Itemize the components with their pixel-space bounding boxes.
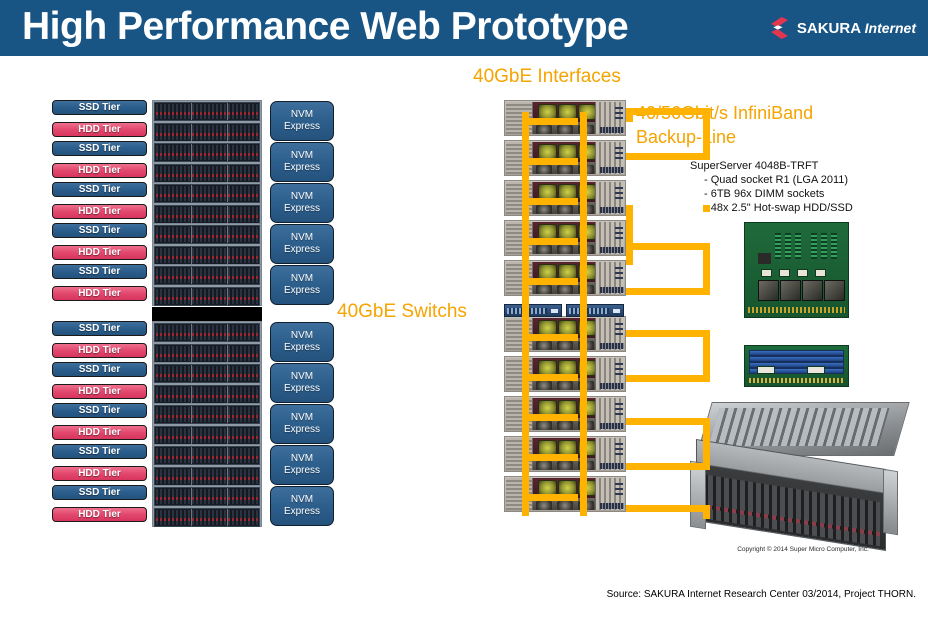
hdd-tier-button[interactable]: HDD Tier (52, 466, 147, 481)
nvm-label-line-1: NVM (291, 371, 313, 383)
server-module (536, 421, 552, 430)
infiniband-cable (626, 108, 710, 115)
nvm-label-line-2: Express (284, 424, 320, 436)
spec-item-1: - 6TB 96x DIMM sockets (704, 187, 900, 201)
pcie-slot (811, 233, 817, 259)
drive-bay-divider (227, 447, 228, 464)
drive-bay-shelf (154, 446, 260, 465)
server-io-port (615, 373, 623, 375)
tier-button-stack: SSD TierHDD Tier (52, 321, 147, 363)
infiniband-cable (626, 463, 710, 470)
riser-chip (757, 366, 775, 374)
server-module (557, 165, 573, 174)
drive-led-strip (156, 194, 258, 197)
infiniband-cable (626, 205, 633, 265)
drive-bay-unit (152, 141, 262, 183)
server-io-port (615, 408, 623, 410)
drive-bay-divider (227, 386, 228, 403)
switch-status-led (551, 309, 558, 313)
infiniband-line-2: Backup-Line (636, 125, 813, 149)
pcie-slot (785, 233, 791, 259)
tier-button-stack: SSD TierHDD Tier (52, 444, 147, 486)
sakura-petal-logo-icon (768, 16, 790, 40)
server-module (557, 205, 573, 214)
drive-led-strip (156, 395, 258, 398)
hdd-tier-button[interactable]: HDD Tier (52, 122, 147, 137)
label-40gbe-switchs: 40GbE Switchs (337, 301, 467, 323)
ssd-tier-button[interactable]: SSD Tier (52, 444, 147, 459)
riser-edge-connector (749, 378, 844, 383)
label-40gbe-interfaces: 40GbE Interfaces (473, 66, 621, 88)
drive-bay-divider (227, 103, 228, 120)
drive-bay-divider (191, 247, 192, 264)
nvm-express-button[interactable]: NVMExpress (270, 322, 334, 362)
drive-bay-unit (152, 485, 262, 527)
hdd-tier-button[interactable]: HDD Tier (52, 204, 147, 219)
drive-led-strip (156, 215, 258, 218)
drive-led-strip (156, 276, 258, 279)
drive-led-strip (156, 256, 258, 259)
drive-bay-divider (227, 406, 228, 423)
drive-led-strip (156, 297, 258, 300)
drive-bay-shelf (154, 426, 260, 445)
drive-led-strip (156, 456, 258, 459)
ssd-tier-button[interactable]: SSD Tier (52, 264, 147, 279)
nvm-label-line-1: NVM (291, 191, 313, 203)
drive-bay-shelf (154, 323, 260, 342)
infiniband-cable (703, 505, 710, 519)
drive-bay-divider (227, 427, 228, 444)
drive-led-strip (156, 153, 258, 156)
drive-bay-unit (152, 403, 262, 445)
tier-button-stack: SSD TierHDD Tier (52, 100, 147, 142)
quad-socket-motherboard-photo (744, 222, 849, 318)
server-module (536, 165, 552, 174)
drive-bay-divider (227, 468, 228, 485)
network-cable (522, 278, 578, 285)
drive-bay-divider (227, 206, 228, 223)
storage-row: SSD TierHDD TierNVMExpress (52, 444, 334, 486)
drive-bay-shelf (154, 405, 260, 424)
nvm-label-line-1: NVM (291, 109, 313, 121)
infiniband-cable (626, 418, 710, 425)
pcie-slot (795, 233, 801, 259)
cpu-socket (802, 280, 823, 301)
dimm-connector (815, 269, 826, 277)
drive-bay-divider (227, 144, 228, 161)
network-cable (522, 238, 578, 245)
tier-button-stack: SSD TierHDD Tier (52, 362, 147, 404)
network-cable (522, 494, 578, 501)
server-nic-ports (600, 343, 624, 349)
drive-bay-divider (191, 365, 192, 382)
ssd-tier-button[interactable]: SSD Tier (52, 403, 147, 418)
nvm-express-button[interactable]: NVMExpress (270, 224, 334, 264)
server-module (536, 125, 552, 134)
drive-led-strip (156, 333, 258, 336)
drive-led-strip (156, 354, 258, 357)
drive-bay-divider (227, 267, 228, 284)
source-line: Source: SAKURA Internet Research Center … (607, 589, 916, 600)
drive-bay-divider (227, 488, 228, 505)
drive-bay-divider (227, 165, 228, 182)
network-cable (522, 454, 578, 461)
nvm-express-button[interactable]: NVMExpress (270, 265, 334, 305)
spec-title: SuperServer 4048B-TRFT (690, 159, 900, 173)
server-io-port (615, 227, 623, 229)
pcie-slot (775, 233, 781, 259)
infiniband-cable (626, 243, 710, 250)
server-io-port (615, 147, 623, 149)
nvm-label-line-2: Express (284, 203, 320, 215)
hdd-tier-button[interactable]: HDD Tier (52, 507, 147, 522)
nvm-express-button[interactable]: NVMExpress (270, 486, 334, 526)
nvm-label-line-2: Express (284, 342, 320, 354)
server-nic-ports (600, 207, 624, 213)
drive-bay-shelf (154, 184, 260, 203)
drive-bay-divider (191, 406, 192, 423)
drive-bay-unit (152, 100, 262, 142)
drive-bay-divider (191, 386, 192, 403)
drive-bay-divider (191, 488, 192, 505)
server-io-port (615, 363, 623, 365)
nvm-express-button[interactable]: NVMExpress (270, 101, 334, 141)
motherboard-edge-connector (748, 307, 845, 313)
ssd-tier-button[interactable]: SSD Tier (52, 223, 147, 238)
drive-bay-unit (152, 444, 262, 486)
drive-bay-divider (227, 345, 228, 362)
title-accent-strip (0, 0, 12, 56)
server-nic-ports (600, 423, 624, 429)
pcie-slot (821, 233, 827, 259)
nvm-express-button[interactable]: NVMExpress (270, 183, 334, 223)
drive-bay-shelf (154, 364, 260, 383)
brand-logo-text: SAKURA Internet (797, 20, 916, 37)
nvm-express-button[interactable]: NVMExpress (270, 445, 334, 485)
drive-bay-divider (191, 185, 192, 202)
server-io-port (615, 157, 623, 159)
drive-bay-divider (227, 288, 228, 305)
page-title: High Performance Web Prototype (22, 5, 628, 49)
drive-bay-divider (191, 103, 192, 120)
drive-bay-divider (191, 124, 192, 141)
supermicro-copyright: Copyright © 2014 Super Micro Computer, I… (703, 546, 903, 553)
server-module (536, 205, 552, 214)
drive-led-strip (156, 415, 258, 418)
server-module (557, 421, 573, 430)
hdd-tier-button[interactable]: HDD Tier (52, 343, 147, 358)
server-io-port (615, 448, 623, 450)
nvm-label-line-1: NVM (291, 494, 313, 506)
cpu-socket (758, 280, 779, 301)
server-io-port (615, 152, 623, 154)
drive-bay-unit (152, 223, 262, 265)
nvm-label-line-2: Express (284, 162, 320, 174)
network-cable (522, 158, 578, 165)
drive-bay-divider (191, 267, 192, 284)
drive-bay-divider (191, 447, 192, 464)
network-cable (522, 334, 578, 341)
drive-bay-unit (152, 264, 262, 306)
superserver-spec-block: SuperServer 4048B-TRFT - Quad socket R1 … (690, 159, 900, 215)
server-module (557, 381, 573, 390)
ssd-tier-button[interactable]: SSD Tier (52, 321, 147, 336)
server-io-port (615, 232, 623, 234)
drive-bay-shelf (154, 508, 260, 527)
dimm-connector (761, 269, 772, 277)
server-io-port (615, 192, 623, 194)
nvm-label-line-1: NVM (291, 273, 313, 285)
drive-bay-divider (227, 365, 228, 382)
storage-row: SSD TierHDD TierNVMExpress (52, 485, 334, 527)
hdd-tier-button[interactable]: HDD Tier (52, 163, 147, 178)
drive-bay-divider (227, 509, 228, 526)
hdd-tier-button[interactable]: HDD Tier (52, 286, 147, 301)
chassis-right-bezel (883, 469, 898, 535)
drive-led-strip (156, 112, 258, 115)
nvm-express-button[interactable]: NVMExpress (270, 142, 334, 182)
drive-bay-shelf (154, 143, 260, 162)
storage-row: SSD TierHDD TierNVMExpress (52, 362, 334, 404)
server-module (536, 381, 552, 390)
server-io-port (615, 488, 623, 490)
drive-led-strip (156, 235, 258, 238)
server-io-port (615, 453, 623, 455)
drive-bay-divider (227, 226, 228, 243)
server-nic-ports (600, 247, 624, 253)
server-io-port (615, 403, 623, 405)
server-io-port (615, 443, 623, 445)
brand-name: SAKURA (797, 20, 861, 37)
infiniband-cable (626, 288, 710, 295)
server-nic-ports (600, 383, 624, 389)
network-cable (522, 198, 578, 205)
server-io-port (615, 197, 623, 199)
infiniband-cable (626, 505, 710, 512)
drive-bay-divider (191, 345, 192, 362)
server-module (536, 245, 552, 254)
server-module (536, 501, 552, 510)
server-nic-ports (600, 167, 624, 173)
drive-bay-shelf (154, 246, 260, 265)
tier-button-stack: SSD TierHDD Tier (52, 141, 147, 183)
switch-status-led (613, 309, 620, 313)
server-nic-ports (600, 127, 624, 133)
server-module (557, 125, 573, 134)
chassis-top-grid (709, 408, 890, 446)
drive-bay-divider (227, 247, 228, 264)
drive-bay-divider (227, 185, 228, 202)
tier-button-stack: SSD TierHDD Tier (52, 403, 147, 445)
nvm-label-line-2: Express (284, 506, 320, 518)
drive-bay-divider (191, 427, 192, 444)
storage-row: SSD TierHDD TierNVMExpress (52, 100, 334, 142)
storage-array-column: SSD TierHDD TierNVMExpressSSD TierHDD Ti… (52, 100, 334, 535)
server-io-port (615, 483, 623, 485)
title-bar: High Performance Web Prototype SAKURA In… (0, 0, 928, 56)
server-module (536, 285, 552, 294)
drive-led-strip (156, 477, 258, 480)
server-io-port (615, 272, 623, 274)
switch-port-row (569, 308, 609, 314)
server-io-port (615, 267, 623, 269)
nvm-label-line-2: Express (284, 383, 320, 395)
server-module (557, 245, 573, 254)
drive-bay-shelf (154, 225, 260, 244)
server-io-port (615, 237, 623, 239)
drive-bay-divider (227, 324, 228, 341)
cpu-socket (780, 280, 801, 301)
server-nic-ports (600, 463, 624, 469)
tier-button-stack: SSD TierHDD Tier (52, 223, 147, 265)
server-io-port (615, 413, 623, 415)
nvm-label-line-2: Express (284, 465, 320, 477)
nvm-express-button[interactable]: NVMExpress (270, 363, 334, 403)
server-io-port (615, 368, 623, 370)
drive-bay-divider (191, 206, 192, 223)
motherboard-chipset-icon (758, 253, 771, 264)
tier-button-stack: SSD TierHDD Tier (52, 182, 147, 224)
drive-bay-unit (152, 182, 262, 224)
infiniband-cable (626, 375, 710, 382)
ssd-tier-button[interactable]: SSD Tier (52, 141, 147, 156)
spec-item-2: - 48x 2.5" Hot-swap HDD/SSD (704, 201, 900, 215)
infiniband-cable (626, 153, 710, 160)
ssd-tier-button[interactable]: SSD Tier (52, 485, 147, 500)
tier-button-stack: SSD TierHDD Tier (52, 485, 147, 527)
storage-row: SSD TierHDD TierNVMExpress (52, 182, 334, 224)
drive-bay-unit (152, 321, 262, 363)
drive-bay-divider (191, 468, 192, 485)
server-io-port (615, 323, 623, 325)
drive-bay-shelf (154, 102, 260, 121)
server-io-port (615, 493, 623, 495)
rack-switch-unit (504, 304, 562, 317)
network-cable (580, 112, 587, 516)
server-module (557, 501, 573, 510)
server-io-port (615, 328, 623, 330)
server-nic-ports (600, 287, 624, 293)
hdd-tier-button[interactable]: HDD Tier (52, 425, 147, 440)
server-rack-column (504, 100, 626, 528)
server-module (557, 341, 573, 350)
drive-bay-shelf (154, 205, 260, 224)
nvm-label-line-1: NVM (291, 150, 313, 162)
drive-led-strip (156, 518, 258, 521)
server-module (536, 461, 552, 470)
storage-row: SSD TierHDD TierNVMExpress (52, 223, 334, 265)
storage-row: SSD TierHDD TierNVMExpress (52, 403, 334, 445)
server-io-port (615, 277, 623, 279)
rack-switch-unit (566, 304, 624, 317)
infiniband-cable (626, 330, 710, 337)
storage-array-gap (152, 307, 262, 321)
storage-row: SSD TierHDD TierNVMExpress (52, 264, 334, 306)
drive-bay-unit (152, 362, 262, 404)
drive-bay-divider (227, 124, 228, 141)
brand-suffix: Internet (865, 20, 916, 36)
drive-bay-shelf (154, 123, 260, 142)
network-cable (522, 414, 578, 421)
storage-row: SSD TierHDD TierNVMExpress (52, 321, 334, 363)
server-module (557, 461, 573, 470)
nvm-label-line-2: Express (284, 244, 320, 256)
drive-led-strip (156, 174, 258, 177)
hdd-tier-button[interactable]: HDD Tier (52, 384, 147, 399)
network-cable (522, 374, 578, 381)
ssd-tier-button[interactable]: SSD Tier (52, 362, 147, 377)
server-module (536, 341, 552, 350)
drive-bay-shelf (154, 266, 260, 285)
drive-bay-shelf (154, 487, 260, 506)
drive-bay-divider (191, 226, 192, 243)
nvm-express-button[interactable]: NVMExpress (270, 404, 334, 444)
drive-bay-shelf (154, 287, 260, 306)
drive-bay-shelf (154, 164, 260, 183)
drive-bay-divider (191, 165, 192, 182)
drive-led-strip (156, 133, 258, 136)
tier-button-stack: SSD TierHDD Tier (52, 264, 147, 306)
brand-logo: SAKURA Internet (768, 14, 916, 42)
infiniband-cable (703, 205, 710, 212)
drive-bay-divider (191, 324, 192, 341)
nvm-label-line-1: NVM (291, 330, 313, 342)
riser-chip (807, 366, 825, 374)
hdd-tier-button[interactable]: HDD Tier (52, 245, 147, 260)
network-cable (522, 118, 578, 125)
drive-bay-divider (191, 509, 192, 526)
dimm-connector (797, 269, 808, 277)
nvm-label-line-1: NVM (291, 412, 313, 424)
nvm-label-line-1: NVM (291, 232, 313, 244)
drive-led-strip (156, 497, 258, 500)
spec-item-0: - Quad socket R1 (LGA 2011) (704, 173, 900, 187)
4u-server-chassis-photo (690, 398, 912, 543)
cpu-socket (824, 280, 845, 301)
nvm-label-line-2: Express (284, 285, 320, 297)
server-io-port (615, 187, 623, 189)
drive-bay-divider (191, 288, 192, 305)
ssd-tier-button[interactable]: SSD Tier (52, 182, 147, 197)
ssd-tier-button[interactable]: SSD Tier (52, 100, 147, 115)
dimm-riser-board-photo (744, 345, 849, 387)
pcie-slot (831, 233, 837, 259)
nvm-label-line-2: Express (284, 121, 320, 133)
server-io-port (615, 107, 623, 109)
nvm-label-line-1: NVM (291, 453, 313, 465)
dimm-connector (779, 269, 790, 277)
server-module (557, 285, 573, 294)
drive-led-strip (156, 436, 258, 439)
server-io-port (615, 117, 623, 119)
drive-led-strip (156, 374, 258, 377)
drive-bay-divider (191, 144, 192, 161)
server-io-port (615, 333, 623, 335)
storage-row: SSD TierHDD TierNVMExpress (52, 141, 334, 183)
server-io-port (615, 112, 623, 114)
server-nic-ports (600, 503, 624, 509)
drive-bay-shelf (154, 385, 260, 404)
drive-bay-shelf (154, 467, 260, 486)
drive-bay-shelf (154, 344, 260, 363)
